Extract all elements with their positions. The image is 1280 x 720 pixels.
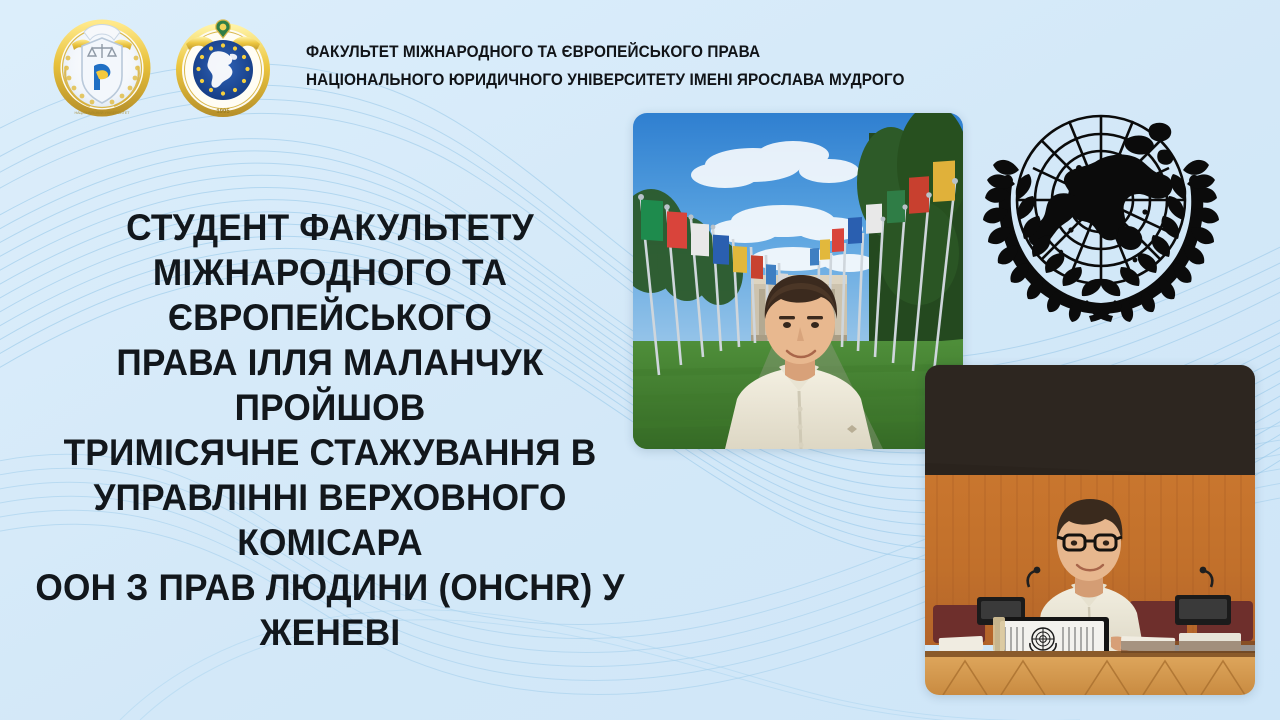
photo-student-at-flags-of-nations bbox=[633, 113, 963, 449]
united-nations-emblem-icon bbox=[975, 100, 1227, 332]
photo-student-in-un-conference-room bbox=[925, 365, 1255, 695]
headline-line-5: УПРАВЛІННІ ВЕРХОВНОГО КОМІСАРА bbox=[20, 475, 640, 565]
header-text-block: ФАКУЛЬТЕТ МІЖНАРОДНОГО ТА ЄВРОПЕЙСЬКОГО … bbox=[306, 43, 950, 90]
header-line-university: НАЦІОНАЛЬНОГО ЮРИДИЧНОГО УНІВЕРСИТЕТУ ІМ… bbox=[306, 71, 904, 90]
crest-year-label: 1995 bbox=[216, 109, 230, 115]
headline-line-2: МІЖНАРОДНОГО ТА ЄВРОПЕЙСЬКОГО bbox=[20, 250, 640, 340]
headline-line-3: ПРАВА ІЛЛЯ МАЛАНЧУК ПРОЙШОВ bbox=[20, 340, 640, 430]
national-law-university-crest-icon: НАЦІОНАЛЬНИЙ УНІВЕРСИТЕТ bbox=[48, 14, 156, 118]
poster-canvas: НАЦІОНАЛЬНИЙ УНІВЕРСИТЕТ bbox=[0, 0, 1280, 720]
headline-line-1: СТУДЕНТ ФАКУЛЬТЕТУ bbox=[20, 205, 640, 250]
svg-text:НАЦІОНАЛЬНИЙ УНІВЕРСИТЕТ: НАЦІОНАЛЬНИЙ УНІВЕРСИТЕТ bbox=[75, 111, 131, 115]
headline-line-6: ООН З ПРАВ ЛЮДИНИ (OHCHR) У bbox=[20, 565, 640, 610]
headline-line-7: ЖЕНЕВІ bbox=[20, 610, 640, 655]
page-title: СТУДЕНТ ФАКУЛЬТЕТУ МІЖНАРОДНОГО ТА ЄВРОП… bbox=[20, 205, 640, 655]
faculty-international-european-law-crest-icon: 1995 bbox=[162, 14, 284, 118]
poster-header: НАЦІОНАЛЬНИЙ УНІВЕРСИТЕТ bbox=[48, 14, 950, 118]
header-line-faculty: ФАКУЛЬТЕТ МІЖНАРОДНОГО ТА ЄВРОПЕЙСЬКОГО … bbox=[306, 43, 904, 62]
headline-line-4: ТРИМІСЯЧНЕ СТАЖУВАННЯ В bbox=[20, 430, 640, 475]
